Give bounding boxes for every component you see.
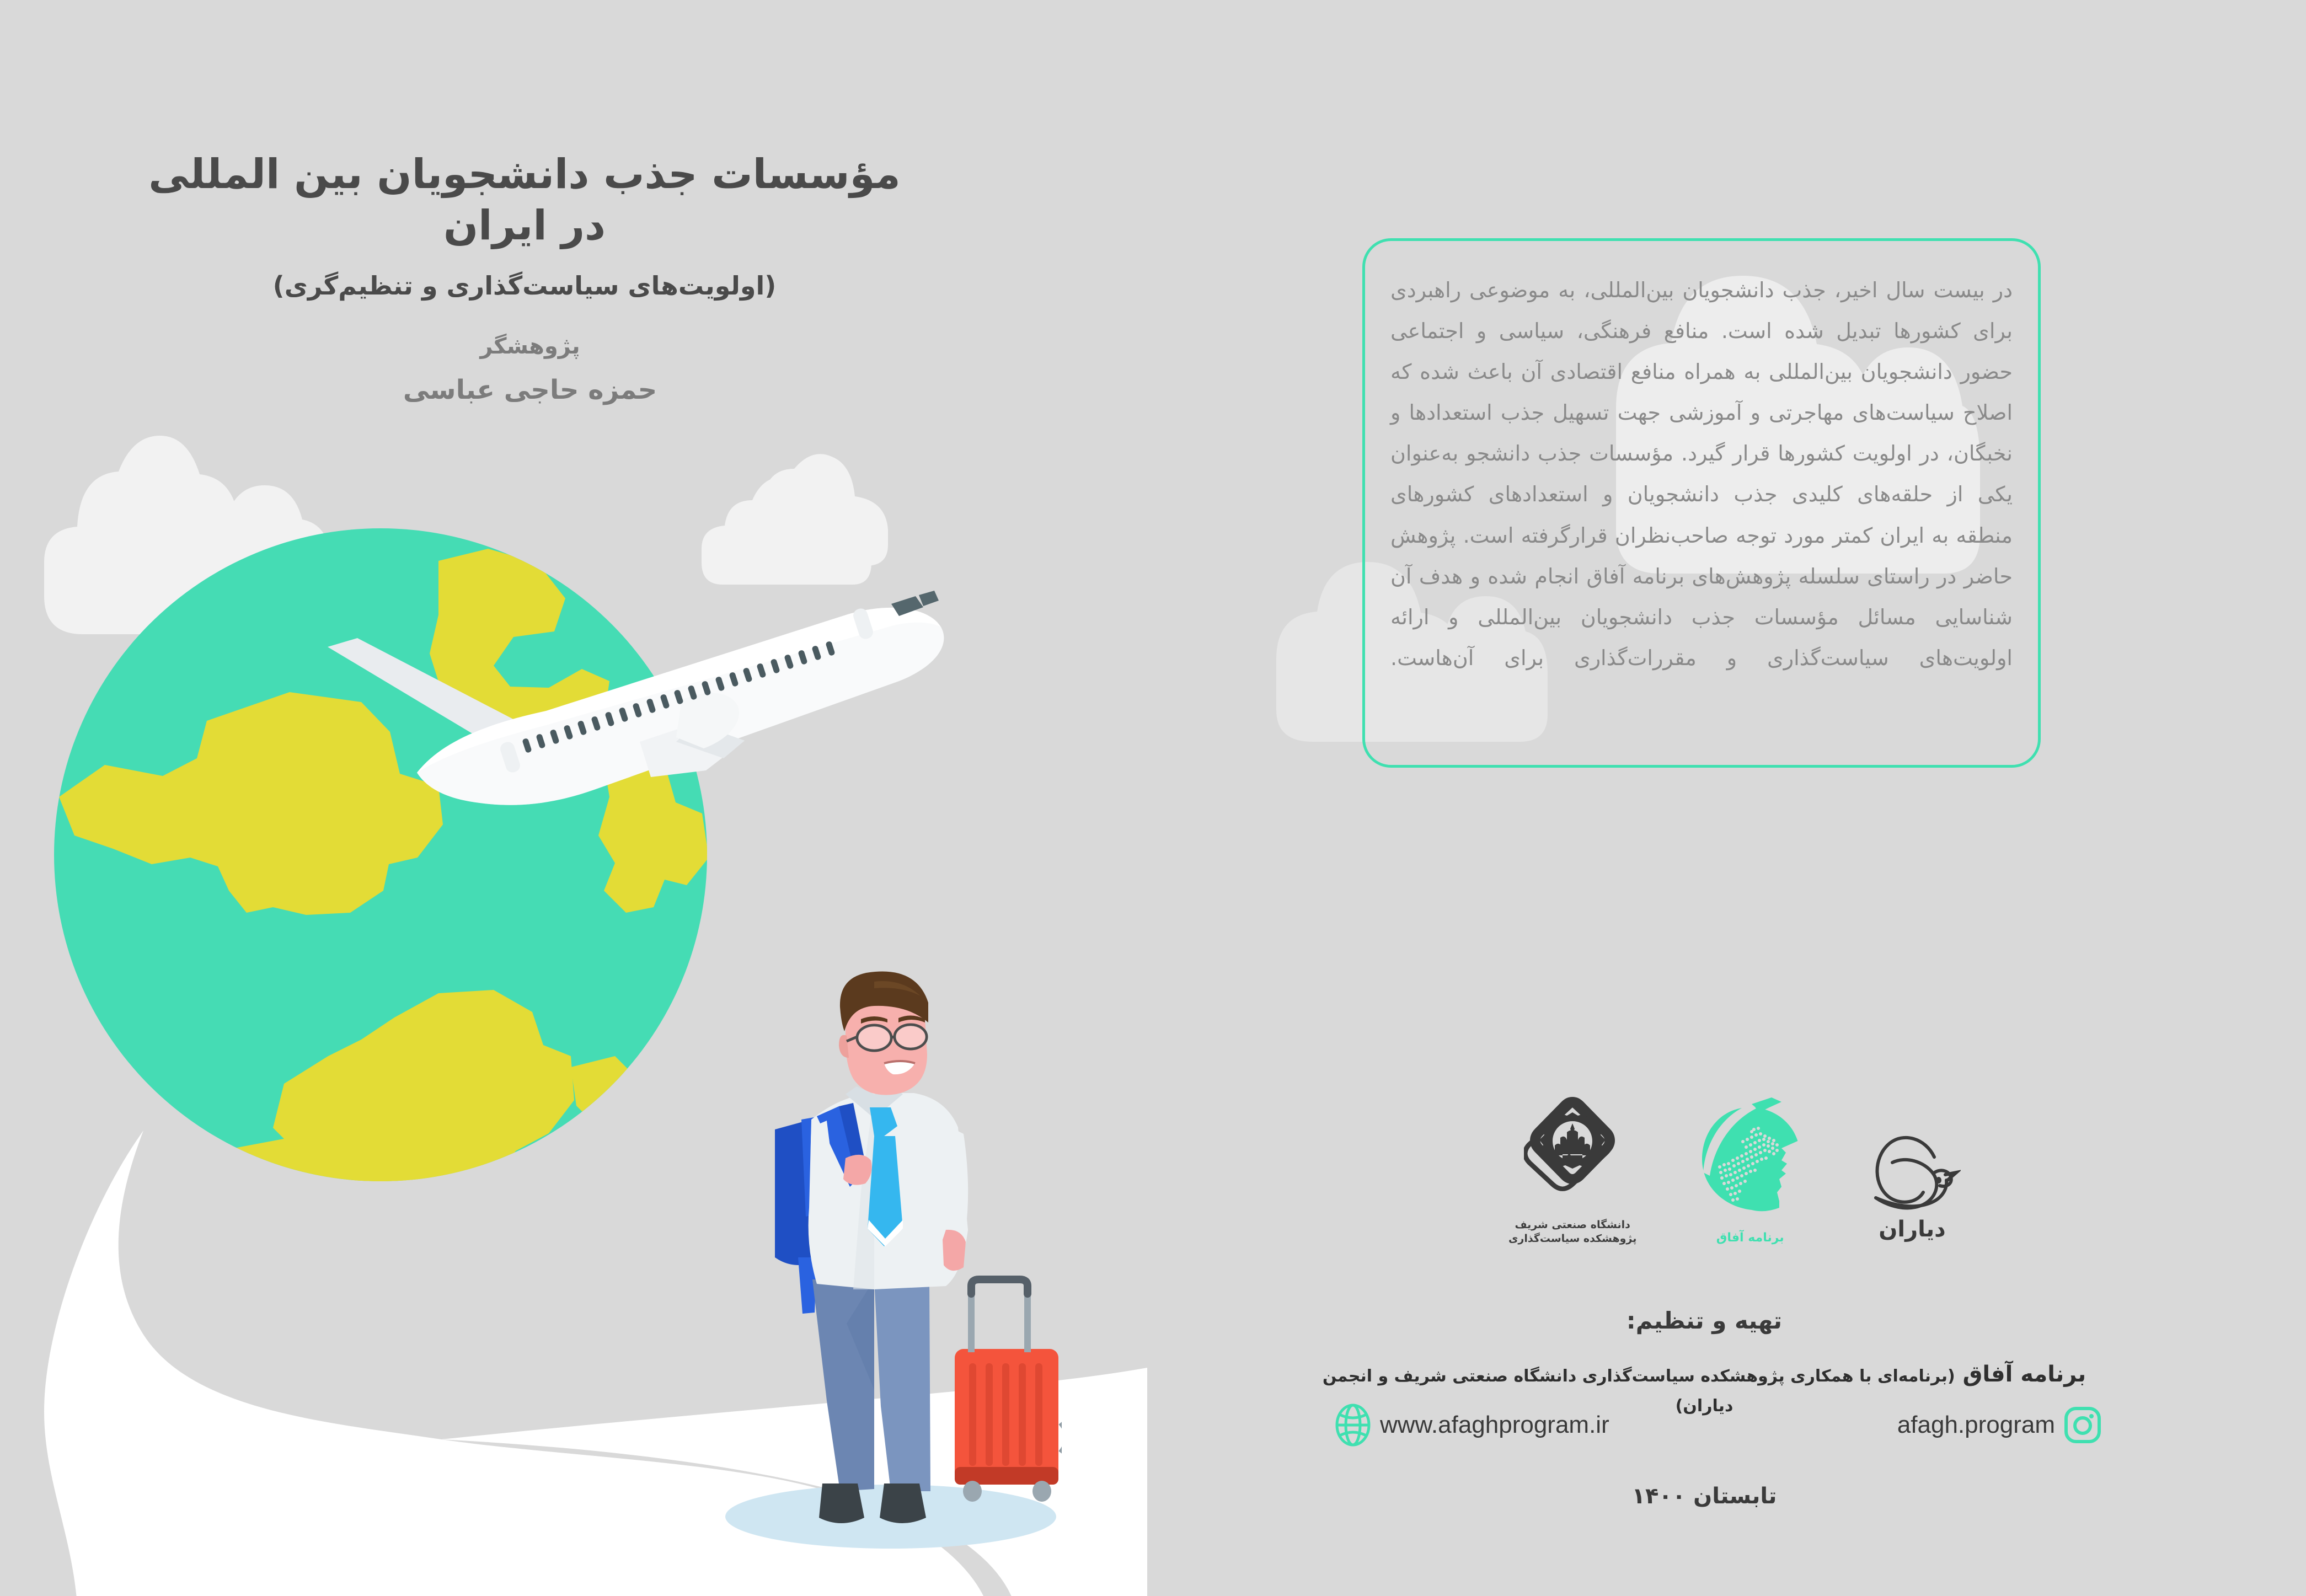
credits-org: برنامه آفاق (1963, 1362, 2086, 1387)
website-url[interactable]: www.afaghprogram.ir (1380, 1411, 1609, 1439)
afagh-logo-caption: برنامه آفاق (1716, 1230, 1784, 1246)
instagram-contact[interactable]: afagh.program (1897, 1406, 2101, 1444)
sharif-logo-caption: دانشگاه صنعتی شریف پژوهشکده سیاست‌گذاری (1508, 1218, 1636, 1246)
globe-icon (1335, 1404, 1371, 1447)
diaran-logo: دیاران (1864, 1120, 1961, 1246)
page-title: مؤسسات جذب دانشجویان بین المللی در ایران (133, 149, 916, 251)
sharif-university-icon (1524, 1092, 1621, 1214)
contact-row: www.afaghprogram.ir afagh.program (1335, 1404, 2101, 1447)
instagram-icon (2064, 1406, 2101, 1444)
author-name-label: حمزه حاجی عباسی (199, 372, 861, 409)
abstract-box: در بیست سال اخیر، جذب دانشجویان بین‌المل… (1362, 238, 2041, 768)
diaran-wordmark: دیاران (1879, 1217, 1945, 1242)
title-block: مؤسسات جذب دانشجویان بین المللی در ایران… (133, 149, 916, 303)
instagram-handle[interactable]: afagh.program (1897, 1411, 2055, 1439)
credits-block: تهیه و تنظیم: برنامه آفاق (برنامه‌ای با … (1313, 1307, 2096, 1419)
author-role-label: پژوهشگر (199, 331, 861, 362)
cover-page: مؤسسات جذب دانشجویان بین المللی در ایران… (0, 0, 2306, 1596)
student-character (709, 971, 1062, 1550)
publication-date: تابستان ۱۴۰۰ (1313, 1483, 2096, 1509)
sharif-logo: دانشگاه صنعتی شریف پژوهشکده سیاست‌گذاری (1508, 1092, 1636, 1246)
afagh-logo: برنامه آفاق (1699, 1095, 1801, 1246)
page-subtitle: (اولویت‌های سیاست‌گذاری و تنظیم‌گری) (133, 270, 916, 303)
afagh-program-icon (1699, 1095, 1801, 1225)
airplane-graphic (287, 576, 960, 813)
diaran-bird-icon: دیاران (1864, 1120, 1961, 1246)
website-contact[interactable]: www.afaghprogram.ir (1335, 1404, 1609, 1447)
author-block: پژوهشگر حمزه حاجی عباسی (199, 331, 861, 409)
logo-row: دانشگاه صنعتی شریف پژوهشکده سیاست‌گذاری (1508, 1070, 1961, 1246)
credits-heading: تهیه و تنظیم: (1313, 1307, 2096, 1334)
abstract-text: در بیست سال اخیر، جذب دانشجویان بین‌المل… (1390, 270, 2013, 678)
